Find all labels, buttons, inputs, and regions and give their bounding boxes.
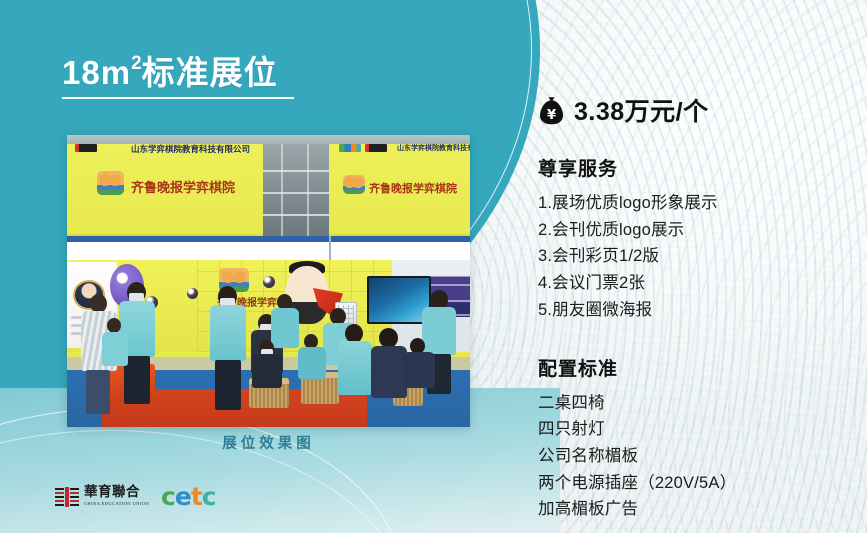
page-title-text: 18m2标准展位 [62,54,362,92]
fascia-badge-right [365,144,387,152]
booth-balloon-c [263,276,275,288]
list-item: 1.展场优质logo形象展示 [538,190,856,217]
heu-logo-cn: 華育聯合 [84,486,149,500]
booth-photo-content: 齐鲁晚报学弈棋院 齐鲁晚报学弈棋院 山东学弈棋院教育科技有限公司 山东学弈棋院教… [67,135,470,427]
money-bag-icon: ¥ [538,96,565,125]
price-row: ¥ 3.38万元/个 [538,92,856,128]
booth-brand-right: 齐鲁晚报学弈棋院 [369,180,457,196]
configuration-list: 二桌四椅 四只射灯 公司名称楣板 两个电源插座（220V/5A） 加高楣板广告 [538,390,856,524]
footer-logos: 華育聯合 CHINA EDUCATION UNION cetc [55,484,216,509]
list-item: 5.朋友圈微海报 [538,297,856,324]
booth-photo: 齐鲁晚报学弈棋院 齐鲁晚报学弈棋院 山东学弈棋院教育科技有限公司 山东学弈棋院教… [67,135,470,427]
list-item: 公司名称楣板 [538,443,856,470]
price-value: 3.38万元/个 [574,92,709,128]
heu-logo-text: 華育聯合 CHINA EDUCATION UNION [84,486,149,506]
title-unit: m [101,54,131,91]
configuration-block: 配置标准 二桌四椅 四只射灯 公司名称楣板 两个电源插座（220V/5A） 加高… [538,354,856,524]
heu-logo-mark-icon [55,487,79,507]
title-rest: 标准展位 [142,54,278,91]
logo-cetc: cetc [161,484,216,509]
details-column: ¥ 3.38万元/个 尊享服务 1.展场优质logo形象展示 2.会刊优质log… [538,92,856,523]
heu-logo-en: CHINA EDUCATION UNION [84,502,149,507]
page-title: 18m2标准展位 [62,54,362,99]
list-item: 4.会议门票2张 [538,270,856,297]
list-item: 加高楣板广告 [538,496,856,523]
photo-caption: 展位效果图 [67,432,470,453]
logo-china-education-union: 華育聯合 CHINA EDUCATION UNION [55,486,149,506]
list-item: 四只射灯 [538,416,856,443]
services-heading: 尊享服务 [538,154,856,181]
booth-banner-gap [263,144,329,236]
fascia-company-right: 山东学弈棋院教育科技有限公 [397,143,470,153]
services-list: 1.展场优质logo形象展示 2.会刊优质logo展示 3.会刊彩页1/2版 4… [538,190,856,324]
fascia-badge-left [75,144,97,152]
booth-brand-left: 齐鲁晚报学弈棋院 [131,177,235,196]
title-underline [62,97,294,100]
list-item: 两个电源插座（220V/5A） [538,470,856,497]
booth-fascia [67,236,470,260]
services-block: 尊享服务 1.展场优质logo形象展示 2.会刊优质logo展示 3.会刊彩页1… [538,154,856,324]
title-number: 18 [62,54,101,91]
fascia-company-left: 山东学弈棋院教育科技有限公司 [131,143,250,155]
title-superscript: 2 [131,53,142,74]
list-item: 2.会刊优质logo展示 [538,217,856,244]
configuration-heading: 配置标准 [538,354,856,381]
list-item: 3.会刊彩页1/2版 [538,243,856,270]
list-item: 二桌四椅 [538,390,856,417]
svg-text:¥: ¥ [547,108,556,123]
booth-fascia-divider [329,236,331,260]
fascia-badge-cetc [339,144,361,152]
booth-mascot-logo-left [97,171,124,195]
booth-interior: 齐鲁晚报学弈棋院 [67,260,470,427]
booth-balloon-b [187,288,198,299]
booth-mascot-logo-right [343,175,365,194]
slide-root: 18m2标准展位 齐鲁晚报学弈棋院 齐鲁晚报学弈棋院 [0,0,867,533]
